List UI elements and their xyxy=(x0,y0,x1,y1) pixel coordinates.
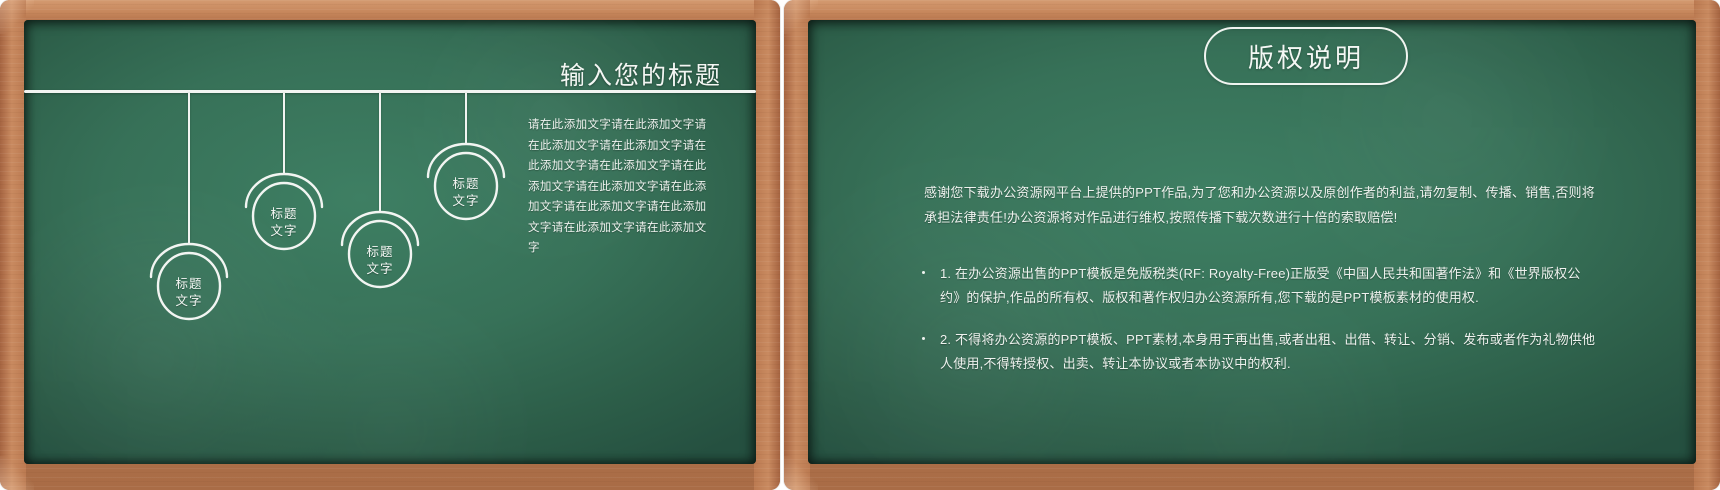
chalk-dust-texture xyxy=(808,20,1696,464)
pendant-bulb[interactable]: 标题 文字 xyxy=(421,141,511,221)
frame-top xyxy=(784,0,1720,22)
chalkboard-surface-left: 输入您的标题 请在此添加文字请在此添加文字请在此添加文字请在此添加文字请在此添加… xyxy=(24,20,756,464)
pendant-bulb[interactable]: 标题 文字 xyxy=(239,171,329,251)
pendant-bulb[interactable]: 标题 文字 xyxy=(144,241,234,321)
pendant-cord xyxy=(283,93,285,175)
pendant-bulb[interactable]: 标题 文字 xyxy=(335,209,425,289)
list-item: 2. 不得将办公资源的PPT模板、PPT素材,本身用于再出售,或者出租、出借、转… xyxy=(918,328,1598,376)
frame-top xyxy=(0,0,780,22)
copyright-badge: 版权说明 xyxy=(1204,27,1408,85)
list-item-text: 1. 在办公资源出售的PPT模板是免版税类(RF: Royalty-Free)正… xyxy=(940,266,1581,305)
pendant-cord xyxy=(379,93,381,213)
chalkboard-surface-right: 版权说明 感谢您下载办公资源网平台上提供的PPT作品,为了您和办公资源以及原创作… xyxy=(808,20,1696,464)
pendant-item: 标题 文字 xyxy=(335,93,425,289)
list-item: 1. 在办公资源出售的PPT模板是免版税类(RF: Royalty-Free)正… xyxy=(918,262,1598,310)
copyright-terms-list: 1. 在办公资源出售的PPT模板是免版税类(RF: Royalty-Free)正… xyxy=(918,262,1598,394)
frame-left xyxy=(0,0,26,490)
pendant-item: 标题 文字 xyxy=(421,93,511,223)
frame-bottom xyxy=(784,462,1720,490)
slide-preview-canvas: 输入您的标题 请在此添加文字请在此添加文字请在此添加文字请在此添加文字请在此添加… xyxy=(0,0,1720,490)
pendant-cord xyxy=(188,93,190,245)
frame-right xyxy=(754,0,780,490)
copyright-intro-paragraph: 感谢您下载办公资源网平台上提供的PPT作品,为了您和办公资源以及原创作者的利益,… xyxy=(924,180,1596,230)
frame-left xyxy=(784,0,810,490)
pendant-group: 标题 文字 标题 文字 xyxy=(24,20,756,464)
slide-board-content[interactable]: 输入您的标题 请在此添加文字请在此添加文字请在此添加文字请在此添加文字请在此添加… xyxy=(0,0,780,490)
frame-bottom xyxy=(0,462,780,490)
bullet-dot-icon xyxy=(922,271,925,274)
list-item-text: 2. 不得将办公资源的PPT模板、PPT素材,本身用于再出售,或者出租、出借、转… xyxy=(940,332,1595,371)
pendant-item: 标题 文字 xyxy=(144,93,234,321)
pendant-item: 标题 文字 xyxy=(239,93,329,253)
slide-board-copyright[interactable]: 版权说明 感谢您下载办公资源网平台上提供的PPT作品,为了您和办公资源以及原创作… xyxy=(784,0,1720,490)
frame-right xyxy=(1694,0,1720,490)
pendant-cord xyxy=(465,93,467,145)
bullet-dot-icon xyxy=(922,337,925,340)
